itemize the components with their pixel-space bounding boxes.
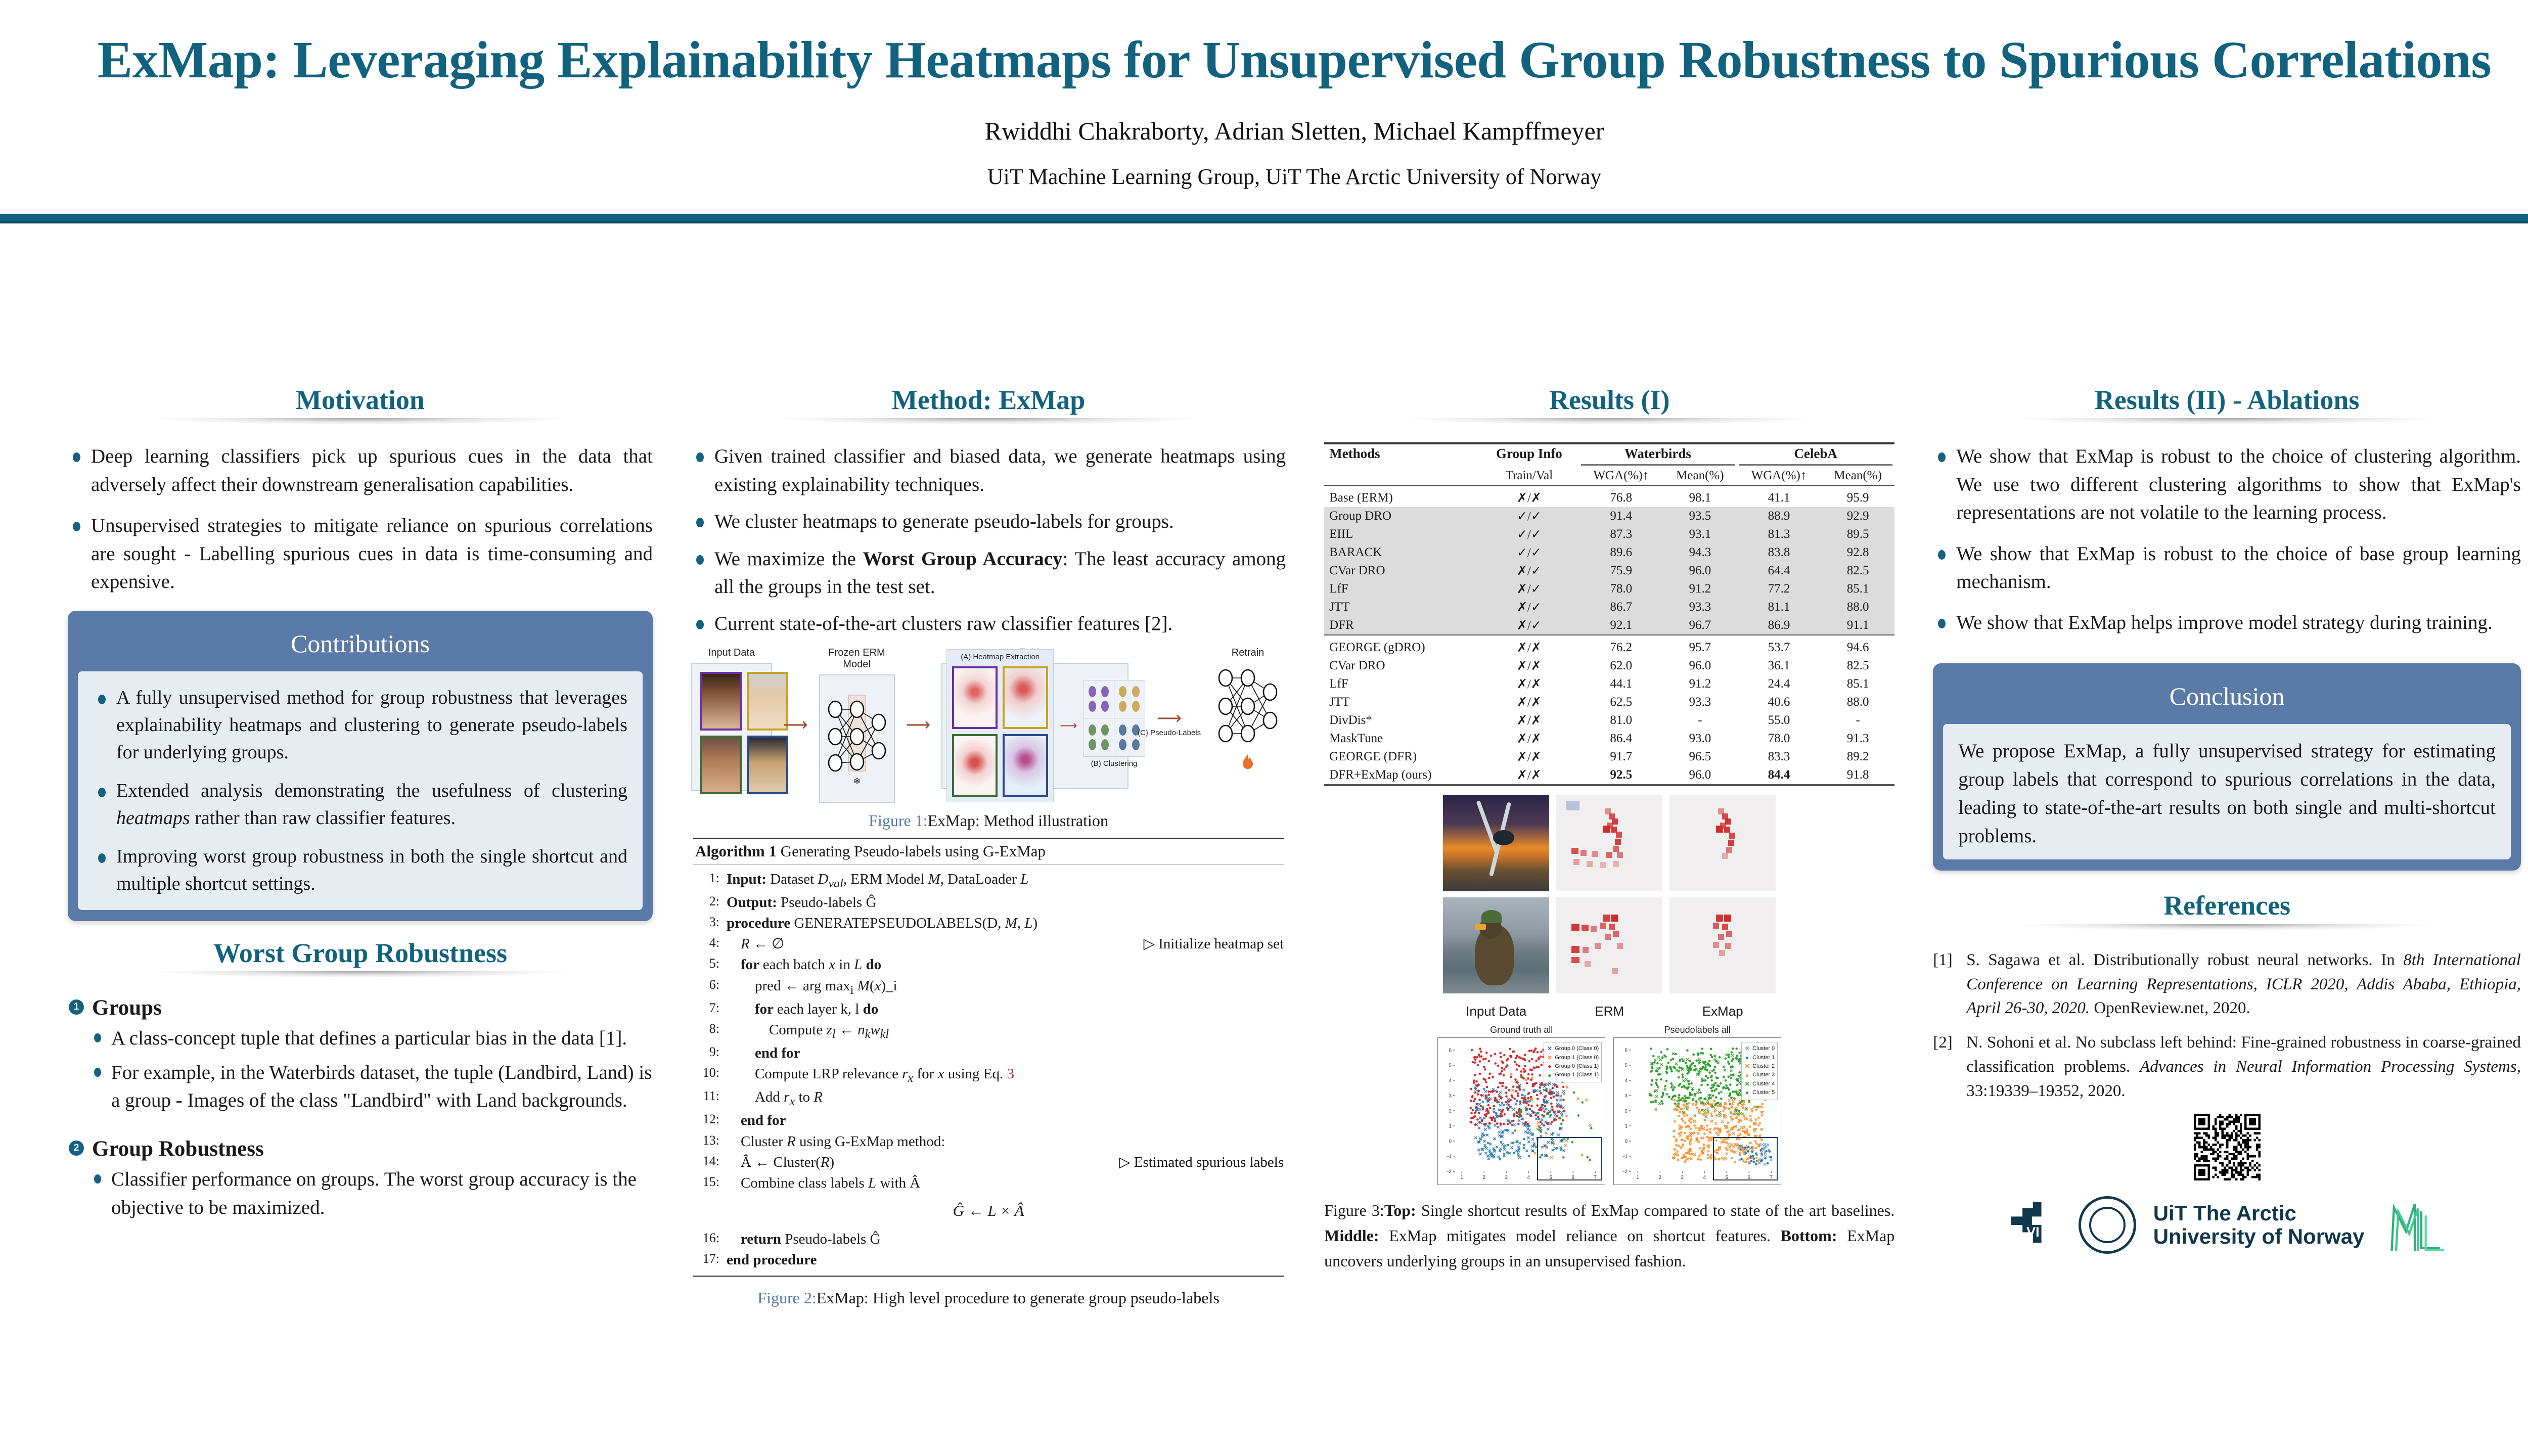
- uit-line-1: UiT The Arctic: [2153, 1202, 2365, 1225]
- cell-wb-wga: 62.5: [1579, 693, 1663, 711]
- results-table: Methods Group Info Waterbirds CelebA: [1324, 444, 1894, 784]
- column-results-1: Results (I) Methods Group Info Waterbird…: [1305, 385, 1914, 1456]
- legend-marker: ✕: [1547, 1044, 1552, 1053]
- svg-text:0: 0: [1625, 1139, 1628, 1145]
- cell-wb-mean: 91.2: [1663, 675, 1737, 693]
- section-title-results-1: Results (I): [1324, 385, 1894, 415]
- section-rule: [68, 418, 653, 431]
- col-header-waterbirds: Waterbirds: [1579, 444, 1737, 463]
- image-column-label: Input Data: [1443, 1004, 1549, 1019]
- table-row: Group DRO✓/✓91.493.588.992.9: [1324, 507, 1894, 525]
- legend-label: Cluster 5: [1752, 1089, 1775, 1097]
- legend-marker: ●: [1547, 1062, 1552, 1071]
- cell-group-info: ✗/✗: [1479, 730, 1579, 748]
- svg-text:3: 3: [1449, 1094, 1452, 1099]
- item-heading: 1 Groups: [68, 995, 653, 1020]
- cell-ca-wga: 81.1: [1737, 598, 1821, 616]
- table-row: CVar DRO✗/✓75.996.064.482.5: [1324, 562, 1894, 580]
- svg-text:3: 3: [1505, 1175, 1508, 1180]
- svg-text:4: 4: [1449, 1078, 1452, 1084]
- neural-network-icon: [1212, 663, 1283, 754]
- cell-ca-wga: 36.1: [1737, 657, 1821, 675]
- cell-ca-wga: 40.6: [1737, 693, 1821, 711]
- svg-text:1: 1: [1449, 1124, 1452, 1129]
- legend-label: Cluster 1: [1752, 1054, 1775, 1062]
- cell-method: JTT: [1324, 693, 1479, 711]
- contributions-bullets: A fully unsupervised method for group ro…: [93, 685, 627, 898]
- legend-item: ✕Cluster 4: [1744, 1080, 1775, 1088]
- svg-text:1: 1: [1625, 1124, 1628, 1129]
- list-item: Improving worst group robustness in both…: [93, 843, 627, 898]
- legend-label: Group 1 (Class 1): [1555, 1071, 1599, 1079]
- cell-wb-wga: 75.9: [1579, 562, 1663, 580]
- algorithm-line: 14:Â ← Cluster(R)▷ Estimated spurious la…: [693, 1152, 1284, 1173]
- legend-label: Group 0 (Class 0): [1555, 1045, 1599, 1053]
- svg-text:3: 3: [1625, 1094, 1628, 1099]
- cell-ca-mean: 91.8: [1821, 766, 1894, 784]
- cell-ca-mean: 95.9: [1821, 489, 1894, 507]
- cell-group-info: ✗/✗: [1479, 748, 1579, 766]
- cell-method: CVar DRO: [1324, 657, 1479, 675]
- cell-wb-mean: 96.0: [1663, 766, 1737, 784]
- erm-heatmap-1: [1556, 795, 1662, 891]
- chart-legend: ✕Group 0 (Class 0)✕Group 1 (Class 0)●Gro…: [1544, 1042, 1602, 1082]
- algorithm-header: Algorithm 1 Generating Pseudo-labels usi…: [693, 839, 1284, 864]
- list-item: We maximize the Worst Group Accuracy: Th…: [691, 545, 1286, 601]
- cell-wb-wga: 92.1: [1579, 616, 1663, 635]
- legend-label: Group 1 (Class 0): [1555, 1054, 1599, 1062]
- author-list: Rwiddhi Chakraborty, Adrian Sletten, Mic…: [61, 116, 2528, 146]
- legend-label: Cluster 3: [1752, 1071, 1775, 1079]
- cell-wb-wga: 91.4: [1579, 507, 1663, 525]
- cell-wb-wga: 44.1: [1579, 675, 1663, 693]
- section-title-worst-group: Worst Group Robustness: [68, 938, 653, 968]
- sub-header-wb-mean: Mean(%): [1663, 467, 1737, 485]
- cell-wb-mean: 96.0: [1663, 657, 1737, 675]
- cell-ca-wga: 84.4: [1737, 766, 1821, 784]
- ablation-bullets: We show that ExMap is robust to the choi…: [1933, 442, 2521, 636]
- figure1-panel-erm: Frozen ERM Model: [819, 647, 895, 803]
- scatter-plot-pseudolabels: Pseudolabels all 1234567-2-10123456 ✕Clu…: [1613, 1037, 1781, 1185]
- section-rule: [691, 418, 1286, 431]
- algorithm-line: 1:Input: Dataset Dval, ERM Model M, Data…: [693, 869, 1284, 892]
- cell-method: BARACK: [1324, 543, 1479, 562]
- reference-list: [1]S. Sagawa et al. Distributionally rob…: [1933, 948, 2521, 1104]
- cell-ca-wga: 83.8: [1737, 543, 1821, 562]
- table-row: BARACK✓/✓89.694.383.892.8: [1324, 543, 1894, 562]
- cell-group-info: ✓/✓: [1479, 543, 1579, 562]
- heatmap-thumbnail: [952, 666, 998, 729]
- cell-group-info: ✗/✗: [1479, 639, 1579, 657]
- legend-marker: ✕: [1744, 1080, 1750, 1088]
- numbered-item: 1 Groups A class-concept tuple that defi…: [68, 995, 653, 1114]
- cell-wb-wga: 86.4: [1579, 730, 1663, 748]
- legend-marker: ✕: [1744, 1062, 1750, 1071]
- svg-text:-1: -1: [1623, 1154, 1628, 1160]
- table-row: MaskTune✗/✗86.493.078.091.3: [1324, 730, 1894, 748]
- item-title: Group Robustness: [92, 1137, 264, 1161]
- results-table-wrapper: Methods Group Info Waterbirds CelebA: [1324, 442, 1894, 786]
- cell-wb-mean: 93.3: [1663, 693, 1737, 711]
- algorithm-line: 11:Add rx to R: [693, 1087, 1284, 1110]
- figure-caption-text: ExMap: High level procedure to generate …: [817, 1289, 1220, 1307]
- cell-wb-mean: 91.2: [1663, 580, 1737, 598]
- sub-header-train-val: Train/Val: [1479, 467, 1579, 485]
- list-item: We show that ExMap is robust to the choi…: [1933, 540, 2521, 596]
- cell-ca-mean: 89.5: [1821, 525, 1894, 543]
- figure-1-caption: Figure 1:ExMap: Method illustration: [691, 810, 1286, 832]
- cell-ca-mean: -: [1821, 711, 1894, 730]
- svg-text:5: 5: [1625, 1063, 1628, 1069]
- cell-group-info: ✗/✓: [1479, 616, 1579, 635]
- algorithm-line: 6:pred ← arg maxi M(x)_i: [693, 976, 1284, 999]
- cell-method: MaskTune: [1324, 730, 1479, 748]
- face-thumbnail: [700, 672, 742, 731]
- cell-wb-mean: 93.3: [1663, 598, 1737, 616]
- panel-label: Input Data: [691, 647, 772, 659]
- algorithm-line: 17:end procedure: [693, 1250, 1284, 1270]
- cell-wb-mean: 96.5: [1663, 748, 1737, 766]
- cell-wb-mean: 93.0: [1663, 730, 1737, 748]
- cell-ca-mean: 91.1: [1821, 616, 1894, 635]
- figure-2-caption: Figure 2:ExMap: High level procedure to …: [691, 1287, 1286, 1309]
- column-motivation: Motivation Deep learning classifiers pic…: [49, 385, 672, 1456]
- legend-label: Cluster 4: [1752, 1080, 1775, 1088]
- section-rule: [68, 971, 653, 984]
- algorithm-title: Generating Pseudo-labels using G-ExMap: [781, 842, 1046, 860]
- item-heading: 2 Group Robustness: [68, 1136, 653, 1161]
- poster-header: ExMap: Leveraging Explainability Heatmap…: [0, 0, 2528, 190]
- table-row: CVar DRO✗/✗62.096.036.182.5: [1324, 657, 1894, 675]
- col-header-group-info: Group Info: [1479, 444, 1579, 463]
- input-image-landbird: [1443, 897, 1549, 993]
- header-divider-thin: [0, 221, 2528, 223]
- number-badge: 2: [69, 1141, 84, 1156]
- algorithm-body: 1:Input: Dataset Dval, ERM Model M, Data…: [693, 865, 1284, 1278]
- algorithm-line: 15:Combine class labels L with Â: [693, 1173, 1284, 1194]
- footer-logos: VI UiT The Arctic University of Norway: [1933, 1196, 2521, 1254]
- table-row: EIIL✓/✓87.393.181.389.5: [1324, 525, 1894, 543]
- cell-wb-wga: 62.0: [1579, 657, 1663, 675]
- cell-group-info: ✗/✓: [1479, 562, 1579, 580]
- reference-number: [2]: [1933, 1031, 1952, 1055]
- legend-marker: ✕: [1744, 1044, 1750, 1053]
- arrow-right-icon: ⟶: [904, 715, 932, 735]
- cell-wb-wga: 76.8: [1579, 489, 1663, 507]
- cell-wb-mean: 95.7: [1663, 639, 1737, 657]
- chart-title: Pseudolabels all: [1614, 1025, 1781, 1035]
- conclusion-title: Conclusion: [1943, 673, 2511, 724]
- numbered-item: 2 Group Robustness Classifier performanc…: [68, 1136, 653, 1221]
- algorithm-line: 13:Cluster R using G-ExMap method:: [693, 1131, 1284, 1152]
- cell-ca-mean: 88.0: [1821, 598, 1894, 616]
- col-header-celeba: CelebA: [1737, 444, 1894, 463]
- legend-label: Group 0 (Class 1): [1555, 1063, 1599, 1071]
- legend-label: Cluster 0: [1752, 1045, 1775, 1053]
- algorithm-line: 4:R ← ∅▷ Initialize heatmap set: [693, 934, 1284, 954]
- cell-wb-mean: 96.7: [1663, 616, 1737, 635]
- cell-wb-mean: 98.1: [1663, 489, 1737, 507]
- legend-marker: ●: [1547, 1071, 1552, 1080]
- cell-method: JTT: [1324, 598, 1479, 616]
- cell-ca-wga: 81.3: [1737, 525, 1821, 543]
- legend-item: ●Cluster 1: [1744, 1054, 1775, 1062]
- legend-item: ✕Cluster 2: [1744, 1062, 1775, 1071]
- cell-ca-mean: 92.8: [1821, 543, 1894, 562]
- algorithm-line: 8:Compute zl ← nkwkl: [693, 1020, 1284, 1043]
- arrow-right-icon: ⟶: [1058, 718, 1079, 733]
- svg-text:1: 1: [1461, 1175, 1464, 1180]
- uit-seal-icon: [2079, 1196, 2136, 1254]
- cell-method: Base (ERM): [1324, 489, 1479, 507]
- list-item: Given trained classifier and biased data…: [691, 442, 1286, 498]
- section-title-references: References: [1933, 891, 2521, 921]
- cell-ca-wga: 83.3: [1737, 748, 1821, 766]
- scatter-plot-ground-truth: Ground truth all 1234567-2-10123456 ✕Gro…: [1437, 1037, 1605, 1185]
- table-row: JTT✗/✓86.793.381.188.0: [1324, 598, 1894, 616]
- chart-title: Ground truth all: [1438, 1025, 1605, 1035]
- svg-text:-2: -2: [1623, 1169, 1628, 1175]
- svg-text:6: 6: [1625, 1048, 1628, 1054]
- cell-group-info: ✗/✗: [1479, 489, 1579, 507]
- cell-group-info: ✗/✗: [1479, 657, 1579, 675]
- table-row: GEORGE (DFR)✗/✗91.796.583.389.2: [1324, 748, 1894, 766]
- cell-wb-mean: 94.3: [1663, 543, 1737, 562]
- cell-method: GEORGE (gDRO): [1324, 639, 1479, 657]
- legend-marker: ●: [1744, 1071, 1750, 1080]
- exmap-heatmap-2: [1669, 897, 1776, 993]
- section-title-method: Method: ExMap: [691, 385, 1286, 415]
- sub-header-ca-mean: Mean(%): [1821, 467, 1894, 485]
- svg-text:0: 0: [1449, 1139, 1452, 1145]
- cell-ca-mean: 82.5: [1821, 562, 1894, 580]
- erm-heatmap-2: [1556, 897, 1662, 993]
- cluster-grid: [1084, 680, 1145, 757]
- algorithm-line: 9:end for: [693, 1043, 1284, 1064]
- sub-header-wb-wga: WGA(%)↑: [1579, 467, 1663, 485]
- list-item: A fully unsupervised method for group ro…: [93, 685, 627, 766]
- cell-group-info: ✗/✗: [1479, 766, 1579, 784]
- vi-logo-icon: VI: [2007, 1199, 2061, 1251]
- contributions-title: Contributions: [78, 621, 643, 671]
- cell-ca-mean: 85.1: [1821, 580, 1894, 598]
- figure-number: Figure 2:: [757, 1289, 816, 1307]
- cell-method: Group DRO: [1324, 507, 1479, 525]
- sub-label-heatmap-extraction: (A) Heatmap Extraction: [949, 653, 1051, 661]
- face-thumbnail: [700, 736, 742, 794]
- uit-wordmark: UiT The Arctic University of Norway: [2153, 1202, 2365, 1248]
- heatmap-thumbnail: [1003, 666, 1048, 729]
- figure-number: Figure 1:: [869, 811, 927, 830]
- cell-ca-wga: 64.4: [1737, 562, 1821, 580]
- heatmap-thumbnail: [1003, 734, 1048, 797]
- figure-1-method-illustration: Input Data ⟶ Frozen ERM Model: [691, 647, 1286, 832]
- cell-wb-wga: 91.7: [1579, 748, 1663, 766]
- panel-label: Frozen ERM Model: [819, 647, 895, 670]
- scatter-plot-figure: Ground truth all 1234567-2-10123456 ✕Gro…: [1324, 1037, 1894, 1185]
- list-item: A class-concept tuple that defines a par…: [90, 1024, 653, 1052]
- algorithm-line: 2:Output: Pseudo-labels Ĝ: [693, 892, 1284, 913]
- page-title: ExMap: Leveraging Explainability Heatmap…: [61, 30, 2528, 90]
- face-thumbnail: [747, 736, 788, 794]
- legend-item: ●Group 1 (Class 1): [1547, 1071, 1599, 1080]
- cell-group-info: ✓/✓: [1479, 525, 1579, 543]
- col-header-methods: Methods: [1324, 444, 1479, 463]
- table-row: LfF✗/✓78.091.277.285.1: [1324, 580, 1894, 598]
- cell-wb-wga: 89.6: [1579, 543, 1663, 562]
- motivation-bullets: Deep learning classifiers pick up spurio…: [68, 442, 653, 596]
- list-item: For example, in the Waterbirds dataset, …: [90, 1059, 653, 1115]
- list-item: We cluster heatmaps to generate pseudo-l…: [691, 508, 1286, 535]
- legend-item: ✕Group 1 (Class 0): [1547, 1054, 1599, 1062]
- svg-text:VI: VI: [2026, 1224, 2040, 1240]
- sub-header-ca-wga: WGA(%)↑: [1737, 467, 1821, 485]
- list-item: Classifier performance on groups. The wo…: [90, 1165, 653, 1221]
- conclusion-box: Conclusion We propose ExMap, a fully uns…: [1933, 663, 2521, 871]
- algorithm-line: 7:for each layer k, l do: [693, 999, 1284, 1020]
- legend-marker: ●: [1744, 1054, 1750, 1062]
- input-face-grid: [692, 664, 771, 802]
- svg-text:6: 6: [1449, 1048, 1452, 1054]
- poster-root: ExMap: Leveraging Explainability Heatmap…: [0, 0, 2528, 1456]
- legend-item: ●Group 0 (Class 1): [1547, 1062, 1599, 1071]
- cell-method: GEORGE (DFR): [1324, 748, 1479, 766]
- cell-ca-wga: 41.1: [1737, 489, 1821, 507]
- cell-ca-wga: 86.9: [1737, 616, 1821, 635]
- cell-wb-wga: 76.2: [1579, 639, 1663, 657]
- cell-method: EIIL: [1324, 525, 1479, 543]
- svg-text:-2: -2: [1447, 1169, 1452, 1175]
- table-row: DFR✗/✓92.196.786.991.1: [1324, 616, 1894, 635]
- svg-text:3: 3: [1681, 1175, 1684, 1180]
- cell-ca-wga: 77.2: [1737, 580, 1821, 598]
- header-divider: [0, 214, 2528, 221]
- section-title-results-2: Results (II) - Ablations: [1933, 385, 2521, 415]
- uit-line-2: University of Norway: [2153, 1225, 2365, 1248]
- section-rule: [1933, 924, 2521, 937]
- sub-bullets: A class-concept tuple that defines a par…: [90, 1024, 653, 1114]
- table-row: DivDis*✗/✗81.0-55.0-: [1324, 711, 1894, 730]
- ml-group-logo-icon: [2382, 1197, 2448, 1253]
- method-bullets: Given trained classifier and biased data…: [691, 442, 1286, 638]
- image-column-label: ERM: [1556, 1004, 1662, 1019]
- cell-group-info: ✗/✓: [1479, 580, 1579, 598]
- table-row: GEORGE (gDRO)✗/✗76.295.753.794.6: [1324, 639, 1894, 657]
- list-item: Extended analysis demonstrating the usef…: [93, 778, 627, 832]
- section-rule: [1933, 418, 2521, 431]
- contributions-box: Contributions A fully unsupervised metho…: [68, 611, 653, 921]
- cell-group-info: ✗/✗: [1479, 693, 1579, 711]
- arrow-right-icon: ⟶: [1138, 708, 1201, 729]
- column-results-2: Results (II) - Ablations We show that Ex…: [1914, 385, 2528, 1456]
- algorithm-line: 16:return Pseudo-labels Ĝ: [693, 1229, 1284, 1250]
- svg-text:2: 2: [1449, 1109, 1452, 1114]
- cell-wb-wga: 87.3: [1579, 525, 1663, 543]
- cell-wb-wga: 78.0: [1579, 580, 1663, 598]
- cell-method: LfF: [1324, 580, 1479, 598]
- qr-code-block[interactable]: [1933, 1114, 2521, 1183]
- column-method: Method: ExMap Given trained classifier a…: [672, 385, 1305, 1456]
- exmap-heatmap-1: [1669, 795, 1776, 891]
- zoom-annotation-box: [1537, 1137, 1602, 1180]
- section-rule: [1324, 418, 1894, 431]
- cell-wb-mean: 93.5: [1663, 507, 1737, 525]
- conclusion-text: We propose ExMap, a fully unsupervised s…: [1958, 737, 2496, 851]
- panel-label: Retrain: [1210, 647, 1286, 659]
- cell-wb-mean: 93.1: [1663, 525, 1737, 543]
- svg-text:2: 2: [1625, 1109, 1628, 1114]
- number-badge: 1: [69, 999, 84, 1015]
- cell-wb-wga: 81.0: [1579, 711, 1663, 730]
- list-item: Current state-of-the-art clusters raw cl…: [691, 610, 1286, 638]
- chart-legend: ✕Cluster 0●Cluster 1✕Cluster 2●Cluster 3…: [1741, 1042, 1778, 1100]
- affiliation: UiT Machine Learning Group, UiT The Arct…: [61, 164, 2528, 190]
- svg-text:-1: -1: [1447, 1154, 1452, 1160]
- figure1-panel-input: Input Data: [691, 647, 772, 791]
- cell-ca-mean: 92.9: [1821, 507, 1894, 525]
- cell-method: LfF: [1324, 675, 1479, 693]
- poster-columns: Motivation Deep learning classifiers pic…: [0, 385, 2528, 1456]
- algorithm-line: 10:Compute LRP relevance rx for x using …: [693, 1064, 1284, 1087]
- qualitative-heatmap-figure: Input Data: [1324, 795, 1894, 1019]
- cell-method: DivDis*: [1324, 711, 1479, 730]
- conclusion-body: We propose ExMap, a fully unsupervised s…: [1943, 724, 2511, 860]
- qr-code-icon[interactable]: [2194, 1114, 2261, 1180]
- list-item: We show that ExMap helps improve model s…: [1933, 609, 2521, 636]
- sub-label-clustering: (B) Clustering: [1084, 759, 1145, 768]
- algorithm-number: Algorithm 1: [695, 842, 777, 860]
- legend-marker: ●: [1744, 1088, 1750, 1097]
- sub-bullets: Classifier performance on groups. The wo…: [90, 1165, 653, 1221]
- algorithm-line: 5:for each batch x in L do: [693, 954, 1284, 975]
- sub-label-pseudo-labels: (C) Pseudo-Labels: [1138, 729, 1201, 737]
- svg-text:5: 5: [1449, 1063, 1452, 1069]
- legend-marker: ✕: [1547, 1054, 1552, 1062]
- cell-ca-wga: 53.7: [1737, 639, 1821, 657]
- section-title-motivation: Motivation: [68, 385, 653, 415]
- figure-caption-text: ExMap: Method illustration: [928, 811, 1108, 830]
- cell-group-info: ✗/✗: [1479, 675, 1579, 693]
- cell-method: CVar DRO: [1324, 562, 1479, 580]
- cell-ca-mean: 89.2: [1821, 748, 1894, 766]
- cell-wb-mean: 96.0: [1663, 562, 1737, 580]
- legend-item: ✕Group 0 (Class 0): [1547, 1044, 1599, 1053]
- cell-group-info: ✗/✓: [1479, 598, 1579, 616]
- table-row: Base (ERM)✗/✗76.898.141.195.9: [1324, 489, 1894, 507]
- reference-item: [2]N. Sohoni et al. No subclass left beh…: [1933, 1031, 2521, 1104]
- algorithm-line: 3:procedure GENERATEPSEUDOLABELS(D, M, L…: [693, 913, 1284, 934]
- arrow-right-icon: ⟶: [781, 715, 810, 735]
- legend-item: ●Cluster 5: [1744, 1088, 1775, 1097]
- cell-group-info: ✓/✓: [1479, 507, 1579, 525]
- svg-text:4: 4: [1625, 1078, 1628, 1084]
- cell-wb-wga: 86.7: [1579, 598, 1663, 616]
- figure-number: Figure 3:: [1324, 1201, 1384, 1219]
- worst-group-items: 1 Groups A class-concept tuple that defi…: [68, 995, 653, 1221]
- algorithm-1-box: Algorithm 1 Generating Pseudo-labels usi…: [691, 838, 1286, 1278]
- svg-text:4: 4: [1703, 1175, 1706, 1180]
- reference-item: [1]S. Sagawa et al. Distributionally rob…: [1933, 948, 2521, 1021]
- svg-text:2: 2: [1659, 1175, 1662, 1180]
- figure1-panel-retrain: Retrain: [1210, 647, 1286, 771]
- cell-ca-mean: 91.3: [1821, 730, 1894, 748]
- list-item: Unsupervised strategies to mitigate reli…: [68, 512, 653, 596]
- reference-number: [1]: [1933, 948, 1952, 973]
- algorithm-line: 12:end for: [693, 1110, 1284, 1131]
- neural-network-icon: ❄: [824, 688, 890, 789]
- cell-ca-mean: 85.1: [1821, 675, 1894, 693]
- input-image-waterbird: [1443, 795, 1549, 891]
